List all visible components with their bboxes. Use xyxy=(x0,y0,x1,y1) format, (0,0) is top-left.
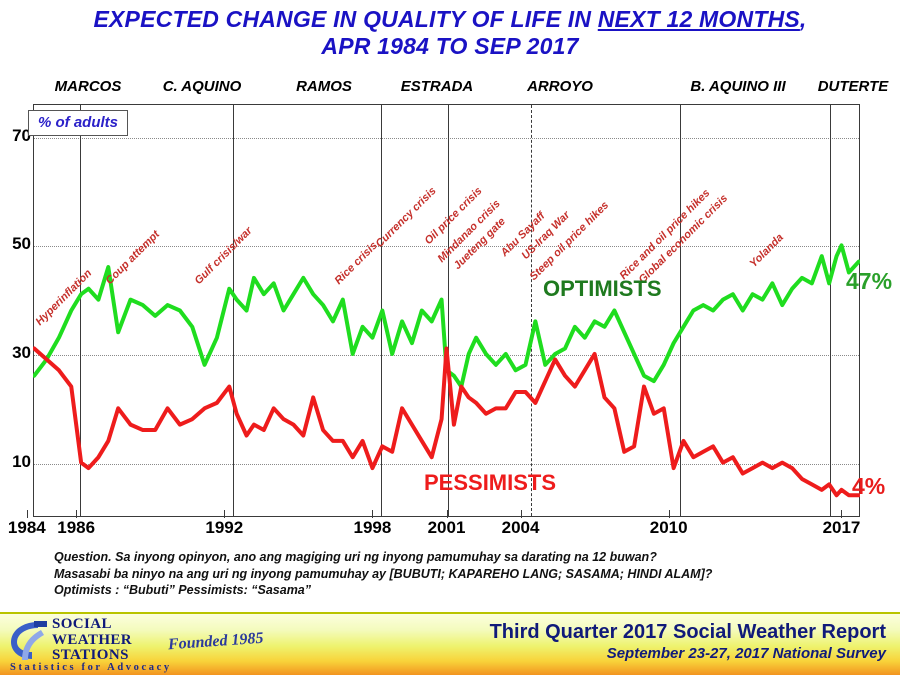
x-tick-mark-1998 xyxy=(372,510,373,518)
footer-banner: SOCIAL WEATHER STATIONS Founded 1985 Sta… xyxy=(0,612,900,675)
x-tick-mark-1992 xyxy=(224,510,225,518)
x-tick-mark-2001 xyxy=(447,510,448,518)
y-tick-10: 10 xyxy=(1,452,31,472)
president-label-marcos: MARCOS xyxy=(38,78,138,95)
x-tick-1984: 1984 xyxy=(5,518,49,538)
president-label-duterte: DUTERTE xyxy=(806,78,900,95)
president-label-ramos: RAMOS xyxy=(268,78,380,95)
page-title: EXPECTED CHANGE IN QUALITY OF LIFE IN NE… xyxy=(0,6,900,60)
y-tick-30: 30 xyxy=(1,343,31,363)
question-line-2: Masasabi ba ninyo na ang uri ng inyong p… xyxy=(54,566,874,583)
slide-root: EXPECTED CHANGE IN QUALITY OF LIFE IN NE… xyxy=(0,0,900,675)
president-label-b-aquino-iii: B. AQUINO III xyxy=(668,78,808,95)
end-value-pessimists: 4% xyxy=(852,473,885,500)
x-tick-2004: 2004 xyxy=(499,518,543,538)
y-axis-unit-box: % of adults xyxy=(28,110,128,136)
title-part-a: EXPECTED CHANGE IN QUALITY OF LIFE IN xyxy=(93,6,597,32)
question-line-1: Question. Sa inyong opinyon, ano ang mag… xyxy=(54,549,874,566)
x-tick-2017: 2017 xyxy=(819,518,863,538)
president-label-c-aquino: C. AQUINO xyxy=(137,78,267,95)
sws-logo-founded: Founded 1985 xyxy=(167,630,264,655)
question-line-3: Optimists : “Bubuti” Pessimists: “Sasama… xyxy=(54,582,874,599)
sws-logo-mark-icon xyxy=(8,619,50,663)
president-label-arroyo: ARROYO xyxy=(495,78,625,95)
title-part-underlined: NEXT 12 MONTHS xyxy=(598,6,800,32)
x-tick-1986: 1986 xyxy=(54,518,98,538)
x-tick-1998: 1998 xyxy=(350,518,394,538)
title-part-c: , xyxy=(800,6,807,32)
report-info: Third Quarter 2017 Social Weather Report… xyxy=(490,620,886,664)
x-tick-mark-1986 xyxy=(76,510,77,518)
sws-logo-text: SOCIAL WEATHER STATIONS xyxy=(52,617,132,664)
sws-logo: SOCIAL WEATHER STATIONS Founded 1985 Sta… xyxy=(8,615,338,673)
chart-lines xyxy=(33,104,860,517)
question-block: Question. Sa inyong opinyon, ano ang mag… xyxy=(54,549,874,599)
president-label-estrada: ESTRADA xyxy=(381,78,493,95)
sws-logo-line-2: WEATHER xyxy=(52,633,132,649)
x-tick-mark-2004 xyxy=(521,510,522,518)
president-band: MARCOSC. AQUINORAMOSESTRADAARROYOB. AQUI… xyxy=(0,78,900,98)
report-subtitle: September 23-27, 2017 National Survey xyxy=(490,644,886,664)
series-label-pessimists: PESSIMISTS xyxy=(424,470,556,496)
end-value-optimists: 47% xyxy=(846,268,892,295)
x-tick-2001: 2001 xyxy=(425,518,469,538)
x-tick-1992: 1992 xyxy=(202,518,246,538)
series-label-optimists: OPTIMISTS xyxy=(543,276,662,302)
x-tick-2010: 2010 xyxy=(647,518,691,538)
y-tick-70: 70 xyxy=(1,126,31,146)
sws-logo-line-1: SOCIAL xyxy=(52,617,132,633)
y-axis-labels: 10305070 xyxy=(0,104,31,517)
y-tick-50: 50 xyxy=(1,234,31,254)
title-line-2: APR 1984 TO SEP 2017 xyxy=(0,33,900,60)
x-tick-mark-2010 xyxy=(669,510,670,518)
x-tick-mark-1984 xyxy=(27,510,28,518)
title-line-1: EXPECTED CHANGE IN QUALITY OF LIFE IN NE… xyxy=(0,6,900,33)
report-title: Third Quarter 2017 Social Weather Report xyxy=(490,620,886,644)
footer-top-rule xyxy=(0,612,900,614)
x-axis-labels: 19841986199219982001200420102017 xyxy=(0,518,900,542)
x-tick-mark-2017 xyxy=(841,510,842,518)
sws-logo-tagline: Statistics for Advocacy xyxy=(10,662,172,673)
